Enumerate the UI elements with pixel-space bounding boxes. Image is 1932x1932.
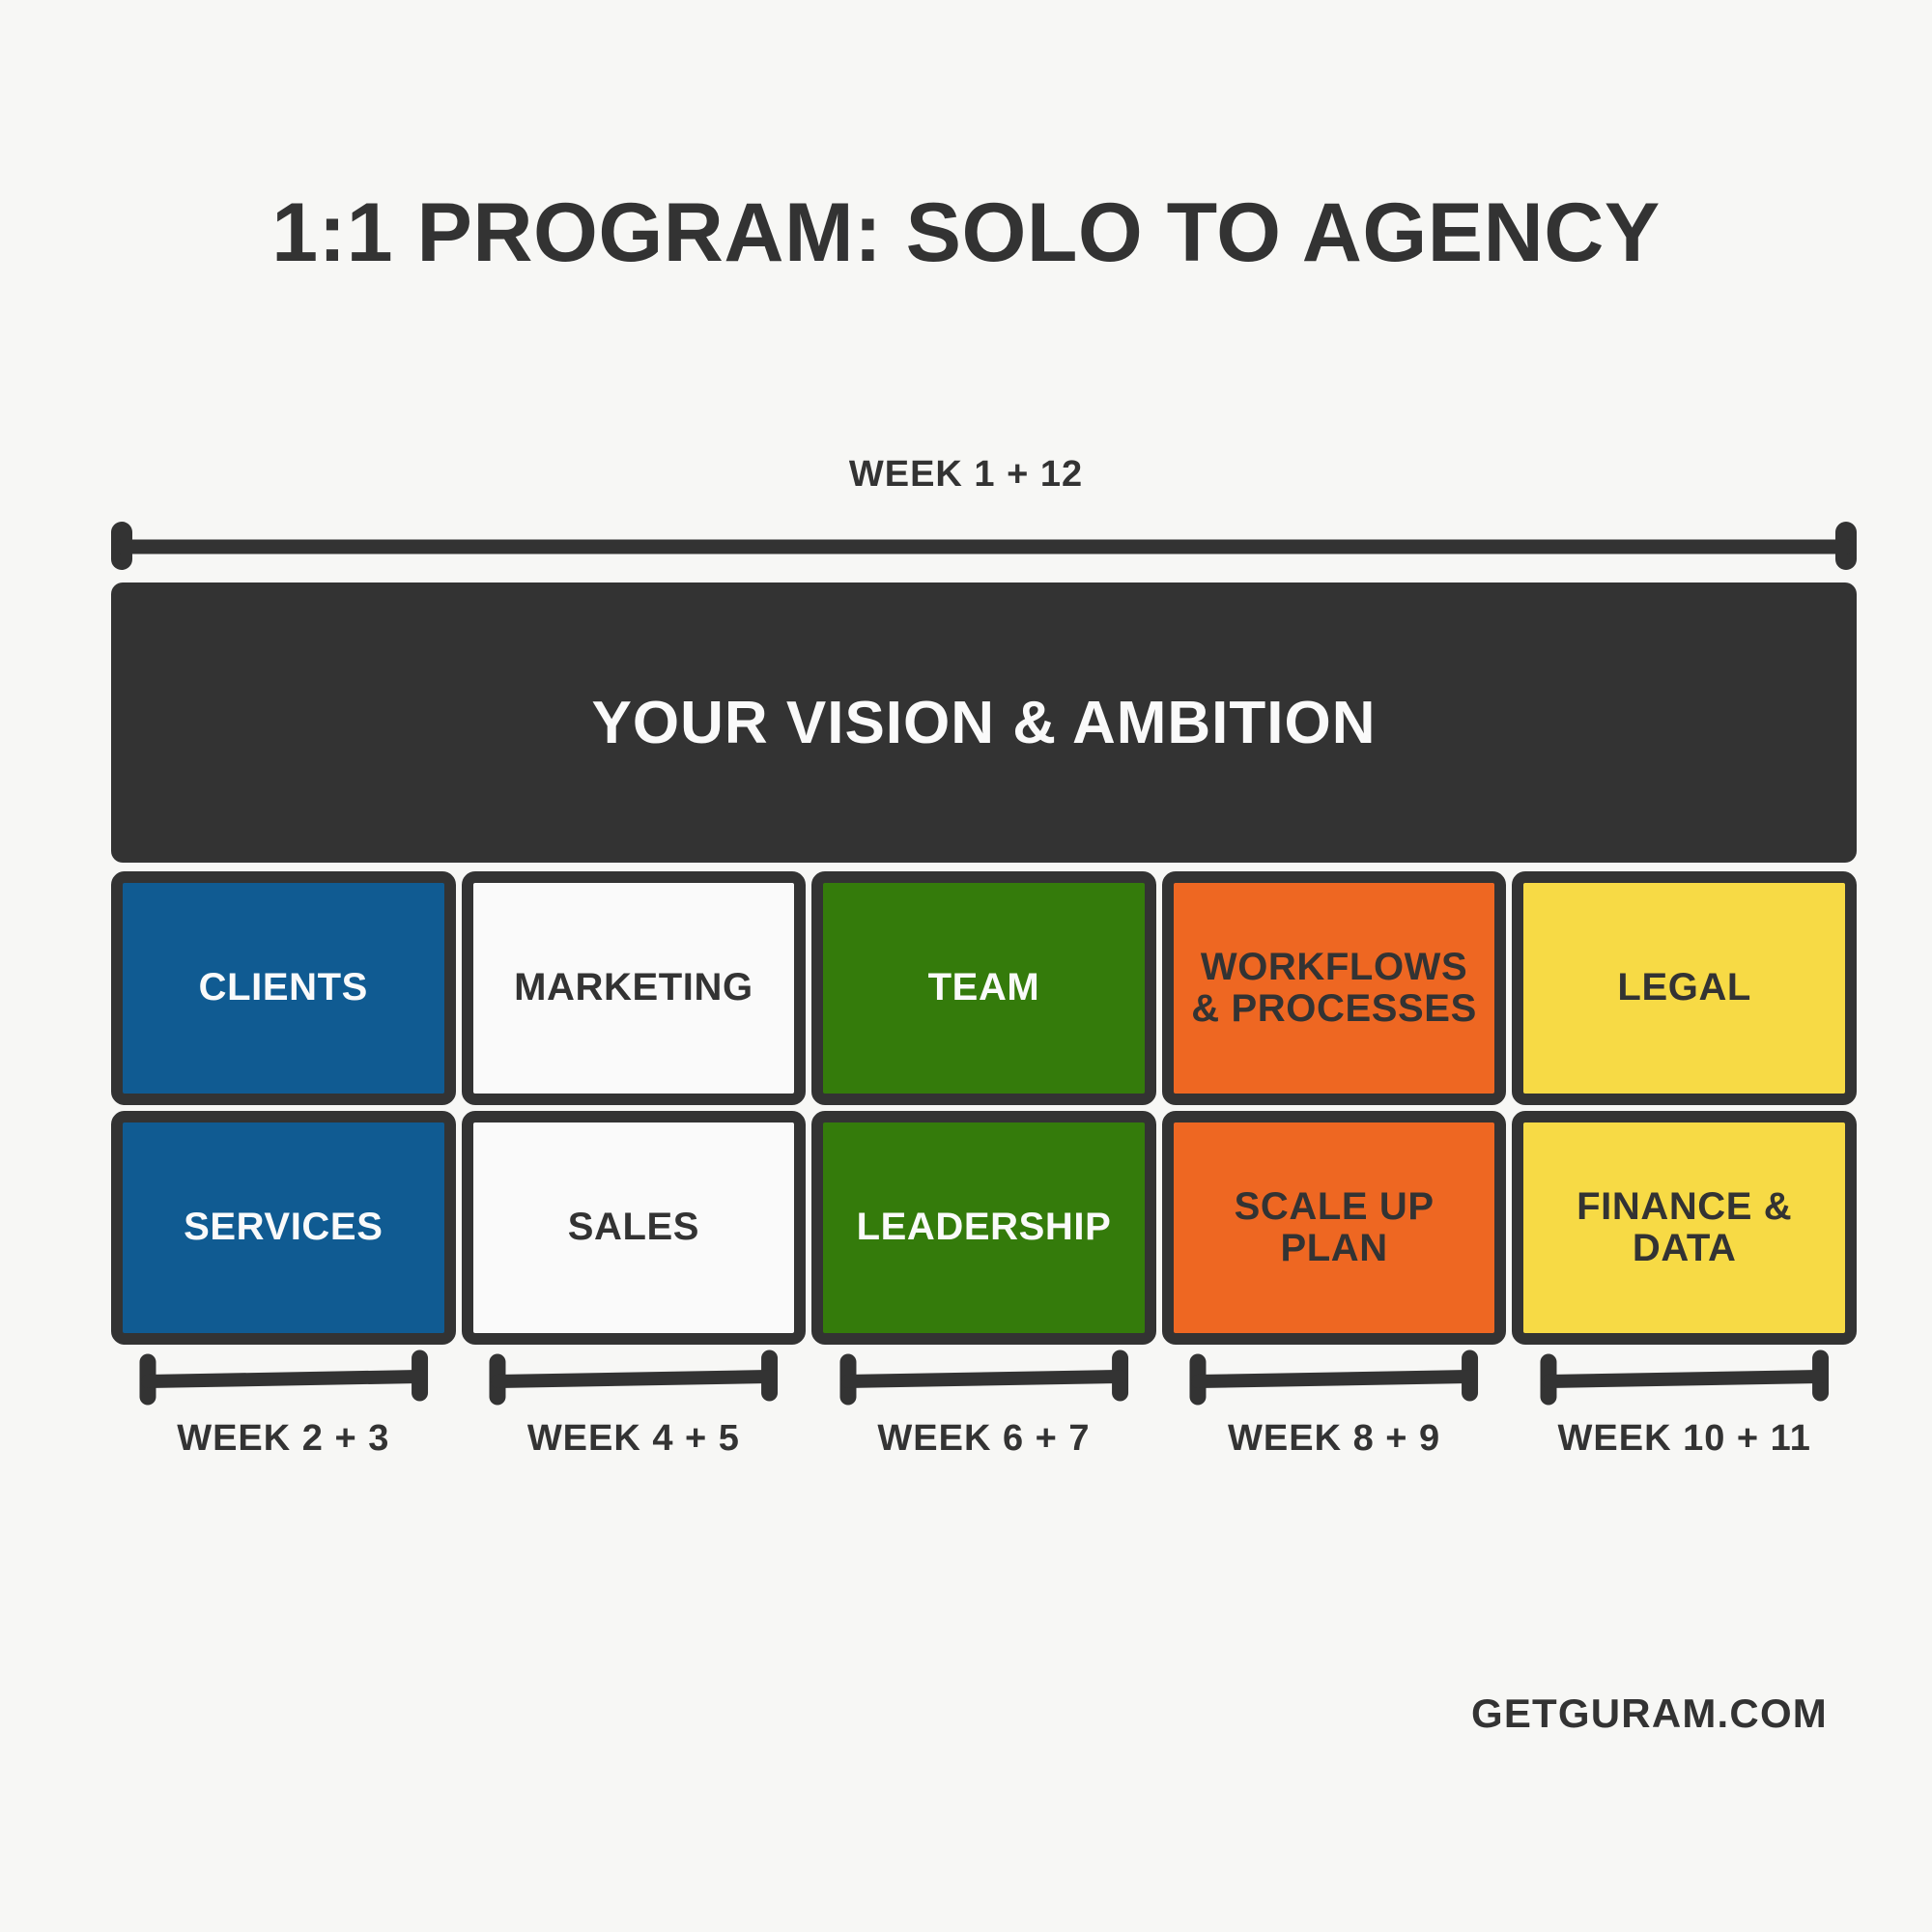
pillar-card-label: LEADERSHIP xyxy=(857,1207,1112,1248)
pillar-card-label: FINANCE &DATA xyxy=(1577,1186,1792,1269)
bottom-week-cell: WEEK 10 + 11 xyxy=(1512,1352,1857,1488)
pillar-card-label: SALES xyxy=(568,1207,699,1248)
page-title: 1:1 PROGRAM: SOLO TO AGENCY xyxy=(0,191,1932,274)
bottom-week-label: WEEK 8 + 9 xyxy=(1228,1418,1440,1460)
horizontal-range-bracket-icon xyxy=(139,1352,429,1408)
pillar-card-label: SCALE UPPLAN xyxy=(1235,1186,1435,1269)
footer-brand: GETGURAM.COM xyxy=(1471,1690,1828,1737)
pillar-card-label: CLIENTS xyxy=(199,967,368,1009)
bottom-week-label: WEEK 6 + 7 xyxy=(877,1418,1090,1460)
horizontal-range-bracket-icon xyxy=(111,526,1857,565)
bottom-week-cell: WEEK 2 + 3 xyxy=(111,1352,456,1488)
vision-ambition-panel: YOUR VISION & AMBITION xyxy=(111,582,1857,863)
pillar-cards-grid: CLIENTSMARKETINGTEAMWORKFLOWS& PROCESSES… xyxy=(111,871,1857,1345)
bottom-week-cell: WEEK 4 + 5 xyxy=(462,1352,807,1488)
pillar-card[interactable]: SALES xyxy=(462,1111,807,1345)
top-week-label: WEEK 1 + 12 xyxy=(0,454,1932,496)
vision-ambition-label: YOUR VISION & AMBITION xyxy=(592,689,1377,757)
bottom-week-row: WEEK 2 + 3WEEK 4 + 5WEEK 6 + 7WEEK 8 + 9… xyxy=(111,1352,1857,1488)
pillar-card-label: WORKFLOWS& PROCESSES xyxy=(1191,947,1477,1030)
bottom-week-label: WEEK 2 + 3 xyxy=(177,1418,389,1460)
bottom-week-cell: WEEK 6 + 7 xyxy=(811,1352,1156,1488)
pillar-card[interactable]: CLIENTS xyxy=(111,871,456,1105)
pillar-card[interactable]: FINANCE &DATA xyxy=(1512,1111,1857,1345)
pillar-card-label: SERVICES xyxy=(184,1207,383,1248)
horizontal-range-bracket-icon xyxy=(489,1352,779,1408)
horizontal-range-bracket-icon xyxy=(1189,1352,1479,1408)
pillar-card-label: LEGAL xyxy=(1617,967,1751,1009)
horizontal-range-bracket-icon xyxy=(1540,1352,1830,1408)
pillar-card[interactable]: LEGAL xyxy=(1512,871,1857,1105)
horizontal-range-bracket-icon xyxy=(839,1352,1129,1408)
bottom-week-cell: WEEK 8 + 9 xyxy=(1162,1352,1507,1488)
bottom-week-label: WEEK 10 + 11 xyxy=(1558,1418,1811,1460)
pillar-card-label: TEAM xyxy=(928,967,1040,1009)
bottom-week-label: WEEK 4 + 5 xyxy=(527,1418,740,1460)
pillar-card[interactable]: LEADERSHIP xyxy=(811,1111,1156,1345)
pillar-card[interactable]: TEAM xyxy=(811,871,1156,1105)
pillar-card[interactable]: SERVICES xyxy=(111,1111,456,1345)
diagram-canvas: 1:1 PROGRAM: SOLO TO AGENCY WEEK 1 + 12 … xyxy=(0,0,1932,1932)
pillar-card[interactable]: SCALE UPPLAN xyxy=(1162,1111,1507,1345)
pillar-card-label: MARKETING xyxy=(514,967,753,1009)
pillar-card[interactable]: MARKETING xyxy=(462,871,807,1105)
pillar-card[interactable]: WORKFLOWS& PROCESSES xyxy=(1162,871,1507,1105)
